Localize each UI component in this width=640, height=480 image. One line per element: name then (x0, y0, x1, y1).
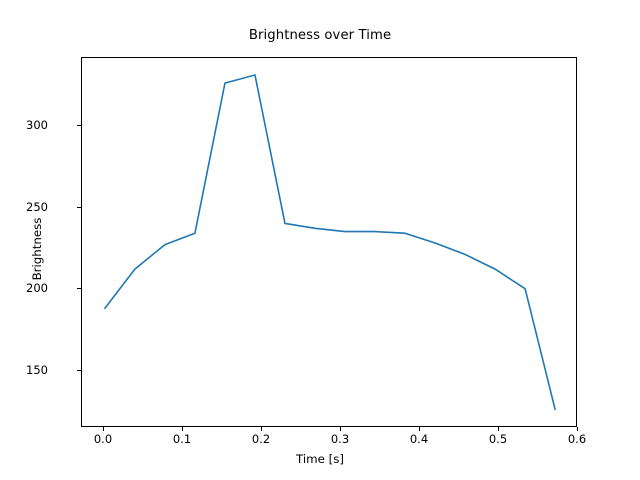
xtick-mark (261, 427, 262, 431)
data-series-line (105, 75, 555, 409)
xtick-label: 0.6 (568, 432, 586, 446)
xtick-mark (340, 427, 341, 431)
xtick-mark (577, 427, 578, 431)
xtick-label: 0.0 (94, 432, 112, 446)
xtick-mark (103, 427, 104, 431)
ytick-mark (77, 125, 81, 126)
ytick-mark (77, 207, 81, 208)
xtick-label: 0.2 (252, 432, 270, 446)
plot-area (81, 57, 577, 427)
xtick-label: 0.4 (410, 432, 428, 446)
xtick-mark (419, 427, 420, 431)
xtick-label: 0.1 (173, 432, 191, 446)
xtick-mark (182, 427, 183, 431)
xtick-label: 0.5 (489, 432, 507, 446)
line-plot-svg (82, 58, 578, 428)
y-axis-label: Brightness (30, 149, 44, 349)
ytick-mark (77, 288, 81, 289)
ytick-label: 150 (26, 363, 48, 377)
x-axis-label: Time [s] (0, 452, 640, 466)
chart-title: Brightness over Time (0, 28, 640, 43)
matplotlib-figure: Brightness over Time 0.0 0.1 0.2 0.3 0.4… (0, 0, 640, 480)
xtick-mark (498, 427, 499, 431)
ytick-mark (77, 370, 81, 371)
ytick-label: 300 (26, 118, 48, 132)
xtick-label: 0.3 (331, 432, 349, 446)
